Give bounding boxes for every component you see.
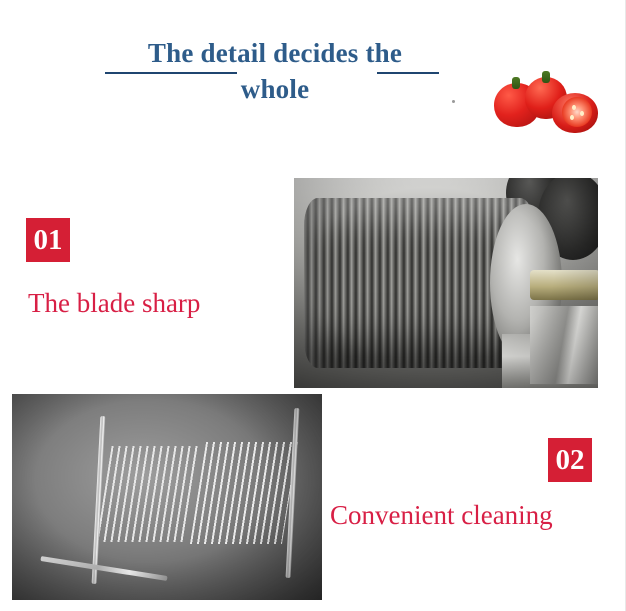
section-label-02: Convenient cleaning [330, 500, 553, 531]
pepper-stem-left [512, 77, 520, 89]
photo-vignette [294, 178, 598, 388]
section-number-badge-01: 01 [26, 218, 70, 262]
header-banner: The detail decides the whole [0, 0, 626, 170]
pepper-seed [570, 115, 574, 120]
page-title-line-2: whole [241, 74, 310, 104]
blade-roller-photo [294, 178, 598, 388]
section-number-badge-02: 02 [548, 438, 592, 482]
pepper-seed [580, 111, 584, 116]
title-underline-right [377, 72, 439, 74]
pepper-stem-center [542, 71, 550, 83]
pepper-cut-face [562, 97, 592, 127]
pepper-seed [572, 105, 576, 110]
comb-blades-photo [12, 394, 322, 600]
red-pepper-image [492, 73, 604, 143]
photo-vignette [12, 394, 322, 600]
dot-mark [452, 100, 455, 103]
title-underline-left [105, 72, 237, 74]
section-label-01: The blade sharp [28, 288, 200, 319]
page-title-line-1: The detail decides the [148, 38, 402, 68]
